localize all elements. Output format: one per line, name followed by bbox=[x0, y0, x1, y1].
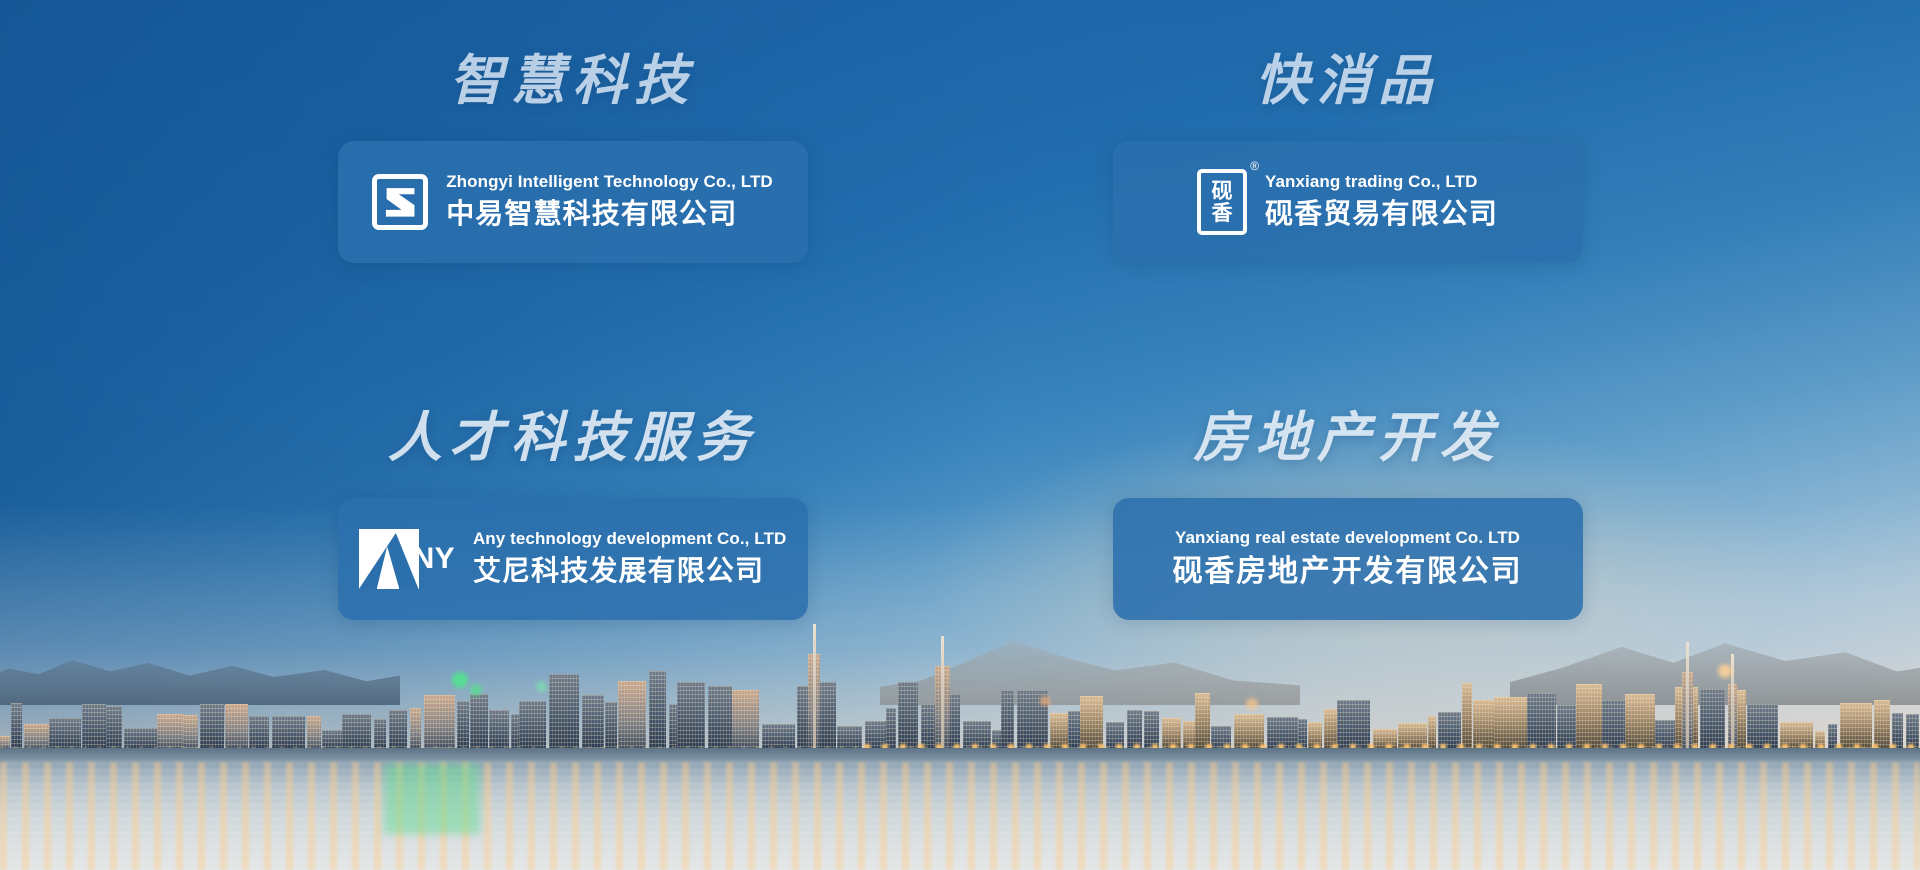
company-name-zh: 中易智慧科技有限公司 bbox=[446, 196, 773, 233]
registered-trademark-icon: ® bbox=[1250, 159, 1259, 173]
company-name-en: Yanxiang trading Co., LTD bbox=[1265, 171, 1498, 194]
zhongyi-z-logo bbox=[372, 174, 428, 230]
segment-cell-real-estate: 房地产开发 Yanxiang real estate development C… bbox=[1005, 391, 1690, 730]
any-mountain-logo: NY bbox=[359, 529, 455, 589]
segment-cell-talent-services: 人才科技服务 NY Any technology development Co.… bbox=[230, 391, 915, 730]
company-name-zh: 砚香贸易有限公司 bbox=[1265, 196, 1498, 233]
company-name-zh: 砚香房地产开发有限公司 bbox=[1173, 552, 1523, 592]
company-card-any[interactable]: NY Any technology development Co., LTD 艾… bbox=[338, 498, 808, 620]
any-logo-text: NY bbox=[413, 542, 455, 576]
segment-title-talent-services: 人才科技服务 bbox=[388, 409, 757, 468]
segments-grid: 智慧科技 Zhongyi Intelligent Technology Co.,… bbox=[0, 0, 1920, 870]
segment-title-fmcg: 快消品 bbox=[1255, 52, 1440, 111]
company-text-zhongyi: Zhongyi Intelligent Technology Co., LTD … bbox=[446, 171, 773, 233]
company-card-yanxiang-real-estate[interactable]: Yanxiang real estate development Co. LTD… bbox=[1113, 498, 1583, 620]
company-text-any: Any technology development Co., LTD 艾尼科技… bbox=[473, 528, 786, 590]
segment-title-real-estate: 房地产开发 bbox=[1194, 409, 1502, 468]
seal-char-xiang: 香 bbox=[1212, 202, 1233, 224]
seal-char-yan: 砚 bbox=[1212, 180, 1233, 202]
company-name-zh: 艾尼科技发展有限公司 bbox=[473, 553, 786, 590]
company-name-en: Any technology development Co., LTD bbox=[473, 528, 786, 551]
segment-cell-smart-technology: 智慧科技 Zhongyi Intelligent Technology Co.,… bbox=[230, 52, 915, 391]
company-text-yanxiang-trading: Yanxiang trading Co., LTD 砚香贸易有限公司 bbox=[1265, 171, 1498, 233]
company-name-en: Yanxiang real estate development Co. LTD bbox=[1175, 527, 1520, 550]
yanxiang-seal-logo: 砚 香 ® bbox=[1197, 169, 1247, 235]
company-text-yanxiang-real-estate: Yanxiang real estate development Co. LTD… bbox=[1173, 527, 1523, 592]
segment-cell-fmcg: 快消品 砚 香 ® Yanxiang trading Co., LTD 砚香贸易… bbox=[1005, 52, 1690, 391]
company-card-zhongyi[interactable]: Zhongyi Intelligent Technology Co., LTD … bbox=[338, 141, 808, 263]
company-name-en: Zhongyi Intelligent Technology Co., LTD bbox=[446, 171, 773, 194]
segment-title-smart-technology: 智慧科技 bbox=[449, 52, 695, 111]
company-card-yanxiang-trading[interactable]: 砚 香 ® Yanxiang trading Co., LTD 砚香贸易有限公司 bbox=[1113, 141, 1583, 263]
